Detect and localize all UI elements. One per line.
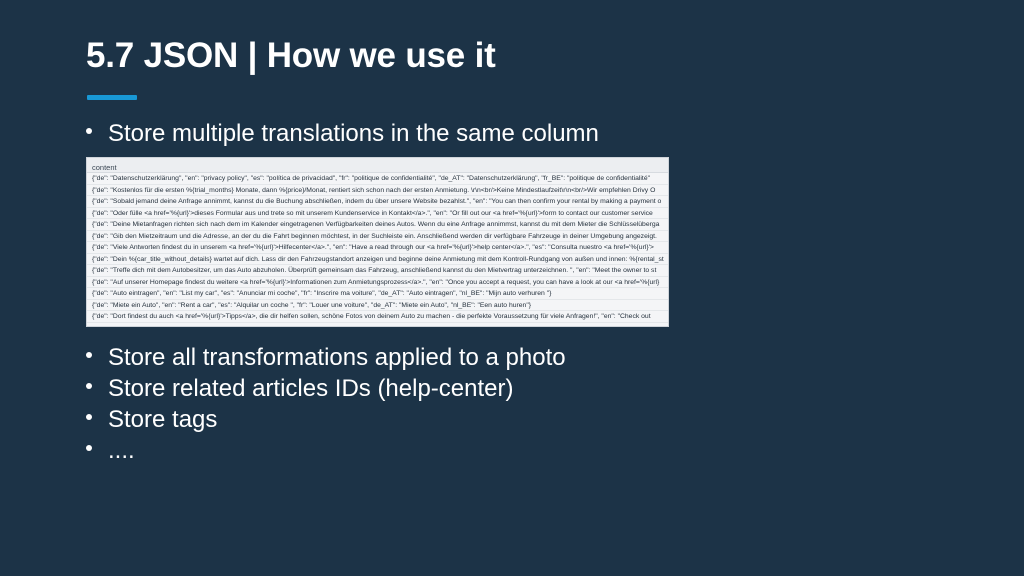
page-title: 5.7 JSON | How we use it [86,36,496,76]
database-table-screenshot: content {"de": "Datenschutzerklärung", "… [86,157,669,327]
table-row: {"de": "Treffe dich mit dem Autobesitzer… [87,265,668,277]
list-item-label: Store all transformations applied to a p… [108,342,566,373]
list-item: Store all transformations applied to a p… [86,342,566,373]
table-row: {"de": "Kostenlos für die ersten %{trial… [87,185,668,197]
table-column-header-content: content [87,158,668,173]
bullet-list-bottom: Store all transformations applied to a p… [86,342,566,466]
table-row: {"de": "Dein %{car_title_without_details… [87,254,668,266]
table-row: {"de": "Datenschutzerklärung", "en": "pr… [87,173,668,185]
table-row: {"de": "Sobald jemand deine Anfrage anni… [87,196,668,208]
list-item: .... [86,435,566,466]
table-row: {"de": "Deine Mietanfragen richten sich … [87,219,668,231]
table-row: {"de": "Dort findest du auch <a href='%{… [87,311,668,323]
table-row: {"de": "Viele Antworten findest du in un… [87,242,668,254]
table-row: {"de": "Auf unserer Homepage findest du … [87,277,668,289]
table-body: {"de": "Datenschutzerklärung", "en": "pr… [87,173,668,323]
list-item: Store multiple translations in the same … [86,118,599,149]
bullet-dot-icon [86,383,92,389]
table-row: {"de": "Auto eintragen", "en": "List my … [87,288,668,300]
list-item: Store tags [86,404,566,435]
bullet-dot-icon [86,445,92,451]
list-item-label: Store tags [108,404,217,435]
list-item: Store related articles IDs (help-center) [86,373,566,404]
table-row: {"de": "Oder fülle <a href='%{url}'>dies… [87,208,668,220]
bullet-dot-icon [86,352,92,358]
table-row: {"de": "Gib den Mietzeitraum und die Adr… [87,231,668,243]
table-row: {"de": "Miete ein Auto", "en": "Rent a c… [87,300,668,312]
list-item-label: Store multiple translations in the same … [108,118,599,149]
list-item-label: Store related articles IDs (help-center) [108,373,514,404]
slide-canvas: 5.7 JSON | How we use it Store multiple … [0,0,1024,576]
bullet-dot-icon [86,128,92,134]
list-item-label: .... [108,435,135,466]
bullet-dot-icon [86,414,92,420]
bullet-list-top: Store multiple translations in the same … [86,118,599,149]
title-underline-accent [87,95,137,100]
